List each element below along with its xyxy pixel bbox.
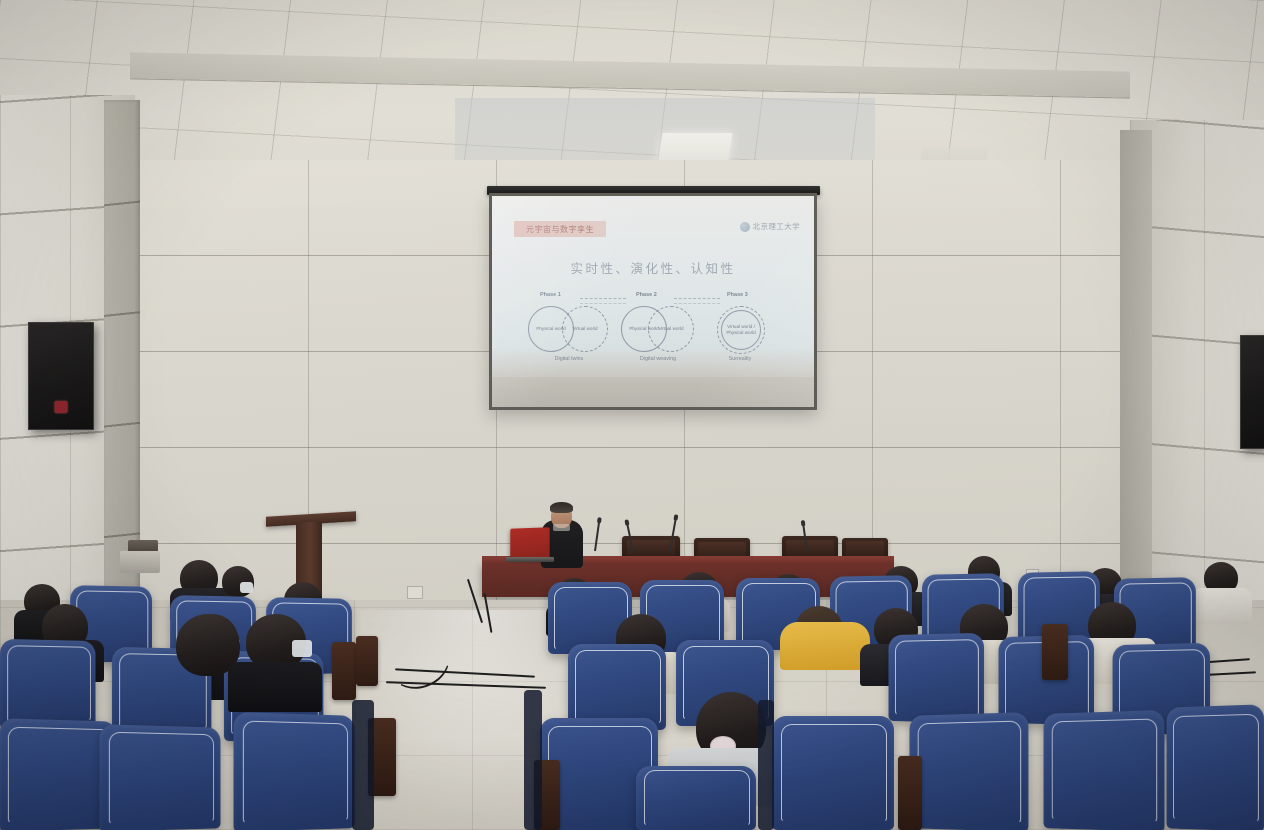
auditorium-seat[interactable] [100,724,221,830]
phase-3-caption: Surreality [709,356,771,362]
seat-piping [1051,719,1157,823]
seat-gap-shadow [524,690,542,830]
auditorium-seat[interactable] [1044,710,1165,830]
seat-piping [781,724,888,822]
seat-piping [1173,713,1259,822]
slide-banner: 元宇宙与数字孪生 [514,221,606,237]
presenter-collar [553,524,570,531]
seat-gap-shadow [758,700,774,830]
university-emblem-icon [740,222,750,232]
audience-yellow-jacket [780,622,870,670]
phase-2-label: Phase 2 [636,292,657,298]
seat-armrest [332,642,356,700]
projection-screen: 元宇宙与数字孪生 北京理工大学 实时性、演化性、认知性 Phase 1 Phas… [492,196,814,407]
phase-2-virtual-label: Virtual world [649,307,693,351]
phase-2-caption: Digital weaving [622,356,694,362]
wall-speaker-left [28,322,94,430]
auditorium-seat[interactable] [772,716,894,830]
phase-1-virtual-label: Virtual world [563,307,607,351]
phase-1-caption: Digital twins [534,356,604,362]
screen-bottom-band [492,377,814,407]
phase-connector-2 [674,298,720,304]
seat-armrest [356,636,378,686]
seat-piping [917,721,1021,823]
slide-logo-text: 北京理工大学 [753,221,800,232]
presenter-laptop-lid [510,527,549,560]
auditorium-seat[interactable] [1167,704,1264,830]
face-mask-l1c [240,582,253,593]
phase-2-virtual-circle: Virtual world [648,306,694,352]
audience-body-r3b [228,662,322,712]
slide-title: 实时性、演化性、认知性 [492,258,814,277]
slide-university-logo: 北京理工大学 [740,221,800,232]
phase-connector-1 [580,298,626,304]
phase-1-label: Phase 1 [540,292,561,298]
auditorium-seat[interactable] [888,633,984,723]
auditorium-seat[interactable] [909,712,1028,830]
seat-piping [895,639,979,717]
slide-banner-text: 元宇宙与数字孪生 [514,221,606,237]
phase-3-merged-circle: Virtual world / Physical world [721,310,761,350]
seat-piping [109,732,215,824]
slide-diagram: Phase 1 Phase 2 Phase 3 Physical world V… [524,292,786,370]
auditorium-seat[interactable] [0,639,96,729]
seat-gap-shadow [352,700,374,830]
seat-armrest [1042,624,1068,680]
seat-piping [243,721,349,823]
presenter-hair [550,502,573,513]
speaker-logo-badge-icon [55,401,68,413]
seat-armrest [898,756,922,830]
face-mask-r3b [292,640,312,657]
phase-3-merged-label: Virtual world / Physical world [722,311,760,349]
seat-piping [8,726,110,823]
auditorium-seat[interactable] [636,766,756,830]
audience-body-r1g [1192,588,1252,624]
presenter-laptop-base [506,557,554,562]
seat-piping [7,645,91,723]
lecture-hall-photo: 元宇宙与数字孪生 北京理工大学 实时性、演化性、认知性 Phase 1 Phas… [0,0,1264,830]
wall-socket [407,586,423,599]
phase-3-label: Phase 3 [727,292,748,298]
auditorium-seat[interactable] [234,712,355,830]
wall-speaker-right [1240,335,1264,449]
projection-screen-frame: 元宇宙与数字孪生 北京理工大学 实时性、演化性、认知性 Phase 1 Phas… [489,193,817,410]
side-equipment-box [120,551,160,573]
seat-piping [644,770,749,826]
seat-piping [575,650,661,724]
phase-1-virtual-circle: Virtual world [562,306,608,352]
